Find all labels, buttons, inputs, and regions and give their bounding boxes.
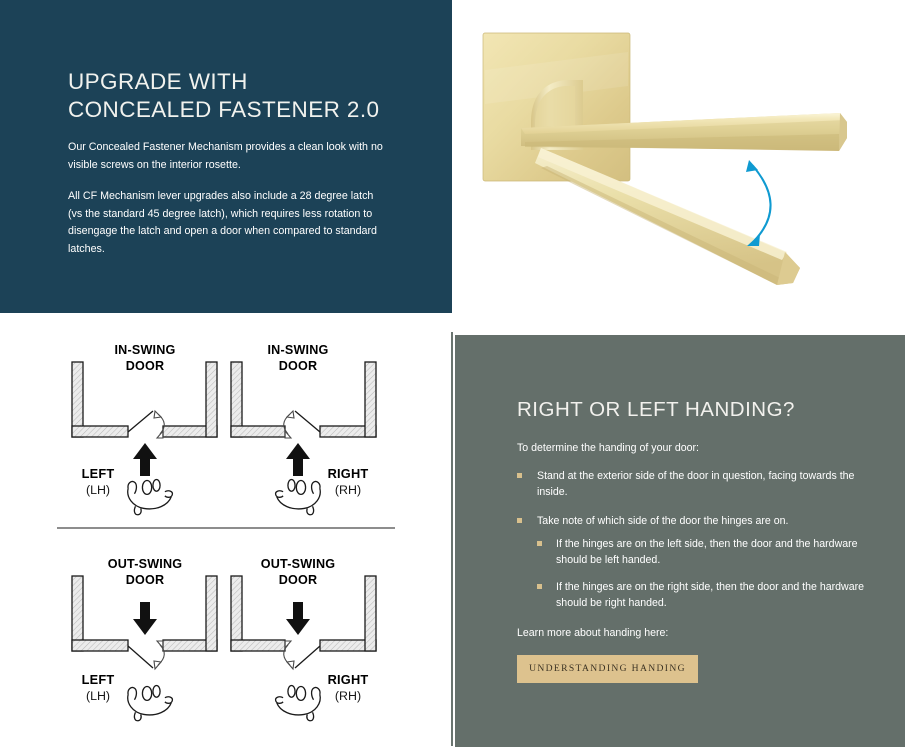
bullet-square-icon xyxy=(537,584,542,589)
concealed-fastener-paragraph-2: All CF Mechanism lever upgrades also inc… xyxy=(68,188,386,258)
diagram-title-in-swing-right-line1: IN-SWING xyxy=(267,343,328,357)
handing-step-1-text: Stand at the exterior side of the door i… xyxy=(537,470,854,498)
diagram-title-out-swing-right-line2: DOOR xyxy=(279,573,318,587)
bullet-square-icon xyxy=(517,518,522,523)
diagram-title-out-swing-right-line1: OUT-SWING xyxy=(261,557,336,571)
handing-guide-panel: RIGHT OR LEFT HANDING? To determine the … xyxy=(455,335,905,747)
lever-rotated-under xyxy=(541,166,780,285)
door-leaf-in-swing-right xyxy=(295,411,320,432)
handing-substep-right: If the hinges are on the right side, the… xyxy=(537,579,877,611)
lever-horizontal-end-cap xyxy=(839,113,847,151)
right-hand-icon xyxy=(276,479,321,514)
swing-arc-in-swing-right xyxy=(284,411,294,438)
diagram-title-in-swing-right-line2: DOOR xyxy=(279,359,318,373)
diagram-right-edge-rule xyxy=(451,332,453,746)
hand-label-out-swing-right: RIGHT xyxy=(328,672,369,687)
door-leaf-in-swing-left xyxy=(128,411,153,432)
handing-steps-list: Stand at the exterior side of the door i… xyxy=(517,468,877,611)
handing-guide-lead: To determine the handing of your door: xyxy=(517,440,877,456)
concealed-fastener-panel: UPGRADE WITH CONCEALED FASTENER 2.0 Our … xyxy=(0,0,452,313)
door-lever-illustration xyxy=(455,0,905,313)
door-leaf-out-swing-right xyxy=(295,646,320,668)
bullet-square-icon xyxy=(537,541,542,546)
understanding-handing-button[interactable]: UNDERSTANDING HANDING xyxy=(517,655,698,683)
handing-substep-right-text: If the hinges are on the right side, the… xyxy=(556,581,864,609)
diagram-title-in-swing-left-line1: IN-SWING xyxy=(114,343,175,357)
handing-substep-left: If the hinges are on the left side, then… xyxy=(537,536,877,568)
handing-diagram-panel: IN-SWING DOOR LEFT (LH) xyxy=(0,330,452,747)
handing-step-2: Take note of which side of the door the … xyxy=(517,513,877,611)
hand-label-in-swing-right: RIGHT xyxy=(328,466,369,481)
handing-step-1: Stand at the exterior side of the door i… xyxy=(517,468,877,500)
concealed-fastener-heading: UPGRADE WITH CONCEALED FASTENER 2.0 xyxy=(68,68,398,124)
hand-sub-out-swing-right: (RH) xyxy=(335,689,361,703)
concealed-fastener-paragraph-1: Our Concealed Fastener Mechanism provide… xyxy=(68,139,386,174)
approach-arrow-out-swing-left xyxy=(133,602,157,635)
swing-arc-in-swing-left xyxy=(154,411,164,438)
hand-label-in-swing-left: LEFT xyxy=(82,466,115,481)
lever-photo-panel: 28° xyxy=(455,0,905,313)
rotation-arc-arrow xyxy=(746,160,771,246)
learn-more-text: Learn more about handing here: xyxy=(517,625,877,641)
hand-sub-in-swing-left: (LH) xyxy=(86,483,110,497)
handing-substeps-list: If the hinges are on the left side, then… xyxy=(537,536,877,612)
marketing-page: UPGRADE WITH CONCEALED FASTENER 2.0 Our … xyxy=(0,0,905,747)
concealed-fastener-body: Our Concealed Fastener Mechanism provide… xyxy=(68,139,386,258)
diagram-walls-out-swing-right xyxy=(231,576,376,651)
swing-arc-out-swing-right xyxy=(284,641,294,669)
handing-substep-left-text: If the hinges are on the left side, then… xyxy=(556,538,858,566)
swing-arc-out-swing-left xyxy=(154,641,164,669)
hand-label-out-swing-left: LEFT xyxy=(82,672,115,687)
right-hand-icon-out-swing xyxy=(276,685,321,720)
handing-step-2-text: Take note of which side of the door the … xyxy=(537,515,788,527)
diagram-title-out-swing-left-line2: DOOR xyxy=(126,573,165,587)
diagram-walls-in-swing-left xyxy=(72,362,217,437)
bullet-square-icon xyxy=(517,473,522,478)
approach-arrow-in-swing-left xyxy=(133,443,157,476)
hand-sub-out-swing-left: (LH) xyxy=(86,689,110,703)
approach-arrow-out-swing-right xyxy=(286,602,310,635)
left-hand-icon-out-swing xyxy=(128,685,173,720)
diagram-walls-in-swing-right xyxy=(231,362,376,437)
handing-guide-heading: RIGHT OR LEFT HANDING? xyxy=(517,397,877,423)
left-hand-icon xyxy=(128,479,173,514)
diagram-title-in-swing-left-line2: DOOR xyxy=(126,359,165,373)
hand-sub-in-swing-right: (RH) xyxy=(335,483,361,497)
door-leaf-out-swing-left xyxy=(128,646,153,668)
diagram-title-out-swing-left-line1: OUT-SWING xyxy=(108,557,183,571)
handing-diagrams: IN-SWING DOOR LEFT (LH) xyxy=(0,330,452,747)
approach-arrow-in-swing-right xyxy=(286,443,310,476)
